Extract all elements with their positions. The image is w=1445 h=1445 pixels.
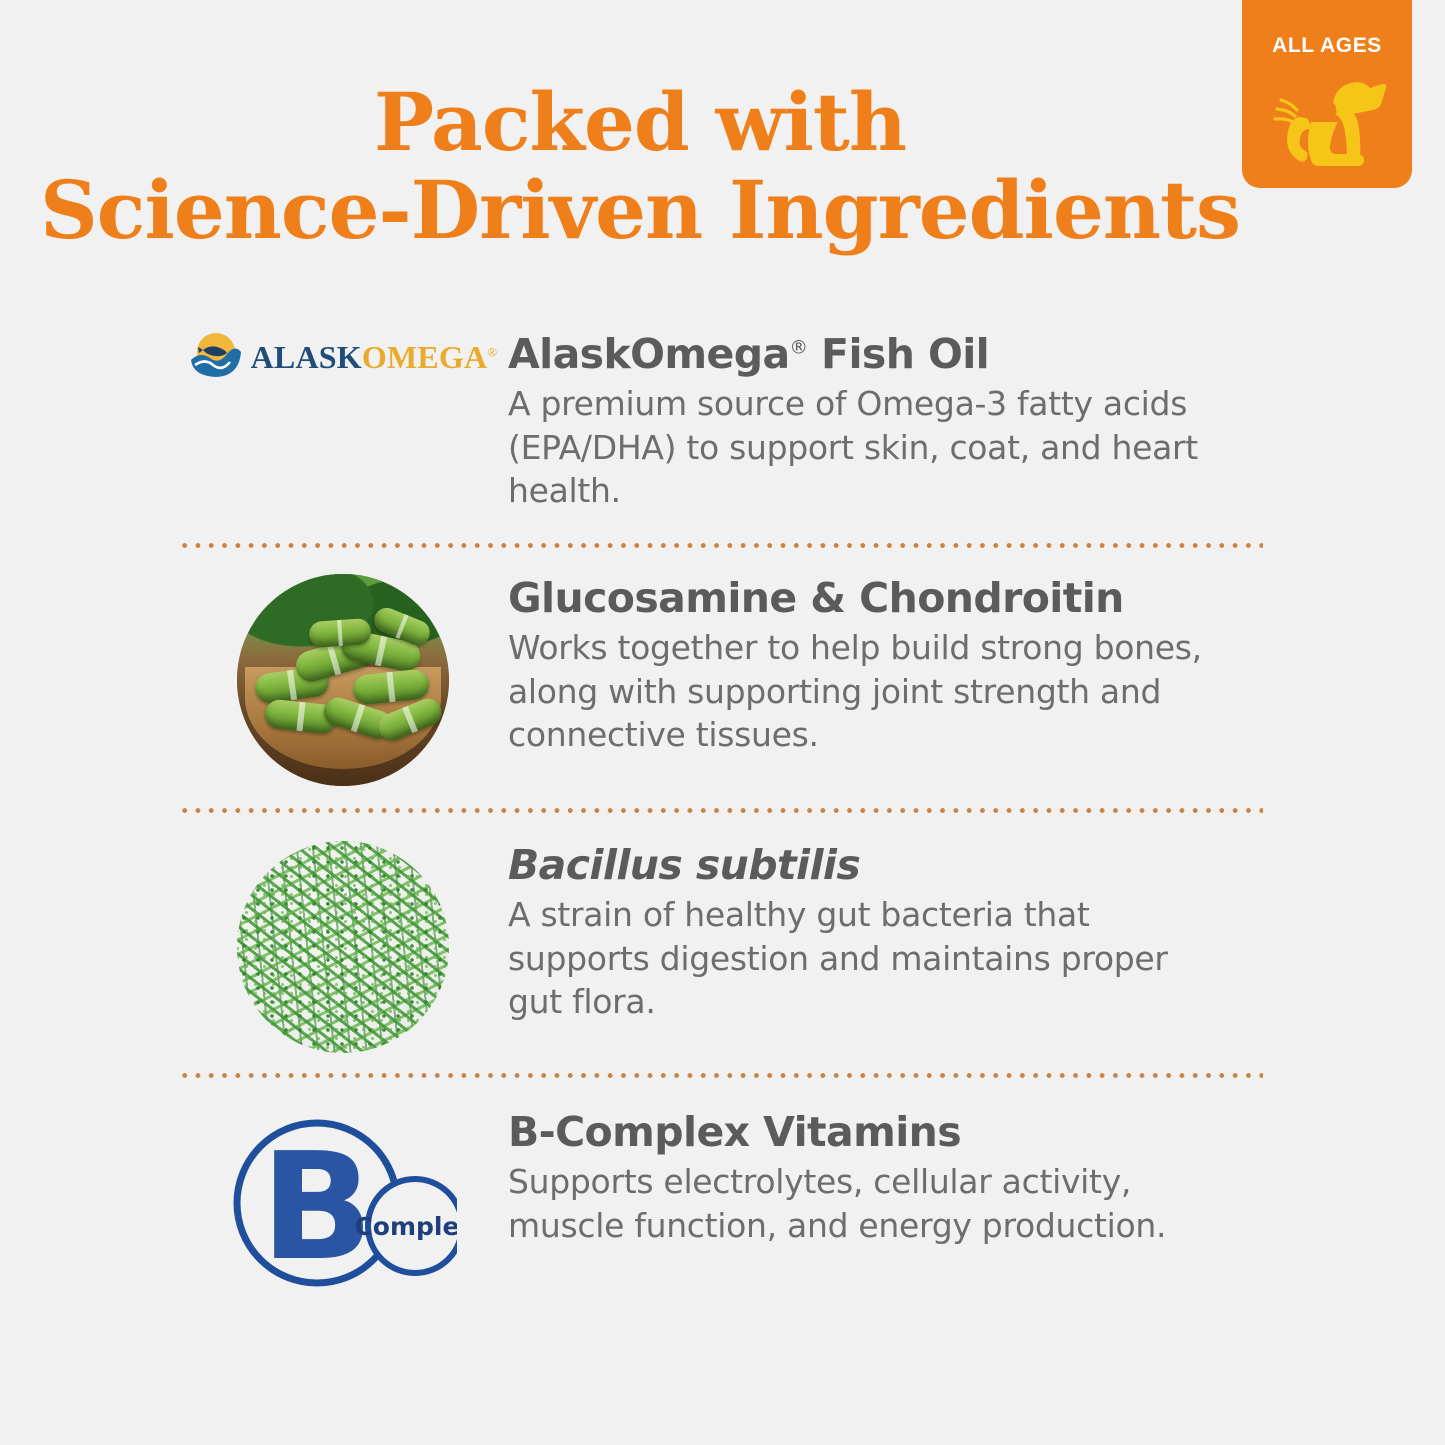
svg-text:B: B (261, 1121, 374, 1293)
green-capsules-photo-icon (178, 574, 508, 786)
headline-line-2: Science-Driven Ingredients (0, 166, 1280, 254)
alaskomega-logo-text-2: OMEGA (362, 339, 487, 375)
ingredient-row-b-complex: B Complex B-Complex Vitamins Supports el… (178, 1078, 1263, 1298)
alaskomega-logo-text-1: ALASK (251, 339, 362, 375)
ingredient-title-main: AlaskOmega (508, 330, 790, 378)
headline-line-1: Packed with (0, 78, 1280, 166)
page-headline: Packed with Science-Driven Ingredients (0, 78, 1280, 254)
all-ages-badge-label: ALL AGES (1242, 34, 1412, 58)
alaskomega-logo-icon: ALASKOMEGA® (178, 330, 508, 384)
registered-mark: ® (790, 337, 808, 358)
ingredient-desc-glucosamine: Works together to help build strong bone… (508, 626, 1208, 757)
ingredient-desc-fish-oil: A premium source of Omega-3 fatty acids … (508, 382, 1208, 513)
alaskomega-logo-registered-mark: ® (487, 344, 497, 359)
ingredient-desc-b-complex: Supports electrolytes, cellular activity… (508, 1160, 1208, 1247)
ingredient-list: ALASKOMEGA® AlaskOmega® Fish Oil A premi… (178, 330, 1263, 1298)
ingredient-title-bacillus: Bacillus subtilis (508, 843, 1263, 887)
sitting-dog-icon (1267, 62, 1387, 179)
ingredient-desc-bacillus: A strain of healthy gut bacteria that su… (508, 893, 1208, 1024)
ingredient-title-fish-oil: AlaskOmega® Fish Oil (508, 332, 1263, 376)
alaskomega-emblem-icon (189, 330, 243, 384)
ingredient-title-rest: Fish Oil (807, 330, 989, 378)
b-complex-badge-text: Complex (354, 1212, 457, 1241)
ingredient-row-fish-oil: ALASKOMEGA® AlaskOmega® Fish Oil A premi… (178, 330, 1263, 543)
bacteria-microscope-photo-icon (178, 841, 508, 1053)
ingredient-row-bacillus: Bacillus subtilis A strain of healthy gu… (178, 813, 1263, 1073)
ingredient-row-glucosamine: Glucosamine & Chondroitin Works together… (178, 548, 1263, 808)
ingredient-title-glucosamine: Glucosamine & Chondroitin (508, 576, 1263, 620)
b-complex-logo-icon: B Complex (178, 1108, 508, 1298)
ingredient-title-b-complex: B-Complex Vitamins (508, 1110, 1263, 1154)
